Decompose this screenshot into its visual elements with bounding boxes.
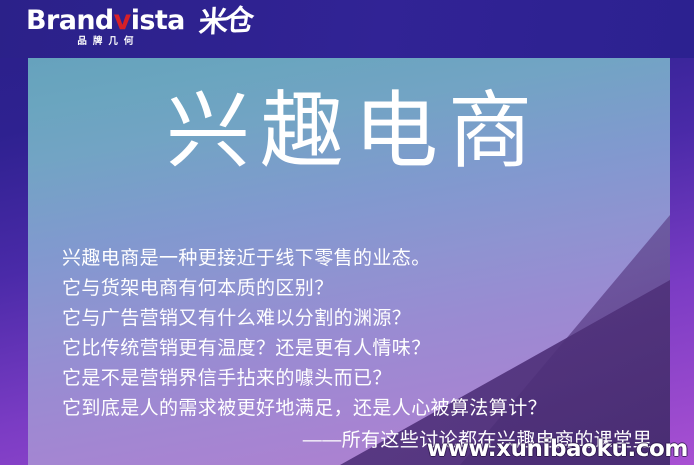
body-line: 它到底是人的需求被更好地满足，还是人心被算法算计？ (62, 394, 662, 424)
header-band: Brandvista 品牌几何 米仓 (0, 0, 694, 58)
micang-calligraphy-mark: 米仓 (198, 6, 252, 38)
site-watermark: www.xunibaoku.com (427, 436, 688, 462)
body-line: 兴趣电商是一种更接近于线下零售的业态。 (62, 244, 662, 274)
brandvista-text: Brandvista (26, 7, 185, 34)
logo-v-glyph: v (114, 5, 131, 36)
logo-subtitle: 品牌几何 (71, 37, 139, 47)
brand-logo: Brandvista 品牌几何 米仓 (26, 7, 251, 47)
presentation-slide: Brandvista 品牌几何 米仓 兴趣电商 兴趣电商是一种更接近于线下零售的… (0, 0, 694, 465)
body-line: 它比传统营销更有温度？还是更有人情味？ (62, 334, 662, 364)
logo-text-before-v: Brand (26, 5, 114, 36)
body-line: 它是不是营销界信手拈来的噱头而已？ (62, 364, 662, 394)
body-line: 它与货架电商有何本质的区别？ (62, 274, 662, 304)
body-line: 它与广告营销又有什么难以分割的渊源？ (62, 304, 662, 334)
content-panel: 兴趣电商 兴趣电商是一种更接近于线下零售的业态。 它与货架电商有何本质的区别？ … (28, 58, 670, 465)
brandvista-wordmark: Brandvista 品牌几何 (26, 7, 185, 47)
slide-body: 兴趣电商是一种更接近于线下零售的业态。 它与货架电商有何本质的区别？ 它与广告营… (62, 244, 662, 424)
logo-text-after-v: ista (131, 5, 185, 36)
slide-title: 兴趣电商 (28, 86, 670, 177)
